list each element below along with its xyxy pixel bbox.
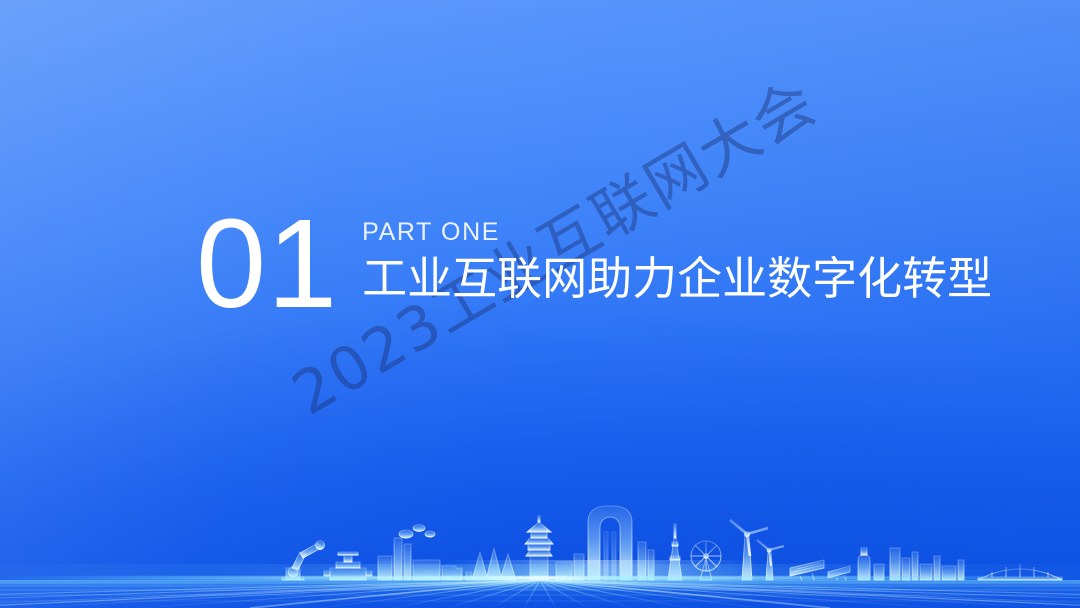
headline-text-block: PART ONE 工业互联网助力企业数字化转型 — [362, 212, 992, 302]
bridge-icon — [978, 564, 1062, 580]
pipe-valve-icon — [324, 552, 372, 580]
scene-graphic — [0, 498, 1080, 608]
part-number: 01 — [196, 214, 338, 315]
solar-panel-icon — [790, 560, 850, 580]
section-headline: 01 PART ONE 工业互联网助力企业数字化转型 — [196, 212, 992, 315]
perspective-grid-ground — [0, 580, 1080, 608]
city-cluster-icon — [890, 548, 964, 580]
part-label: PART ONE — [362, 220, 992, 245]
storage-tank-icon — [858, 548, 884, 580]
page-title: 工业互联网助力企业数字化转型 — [362, 255, 992, 302]
industrial-city-scene — [0, 498, 1080, 608]
skyline-halo — [440, 560, 760, 582]
slide-canvas: 2023工业互联网大会 01 PART ONE 工业互联网助力企业数字化转型 — [0, 0, 1080, 608]
robot-arm-icon — [282, 541, 325, 581]
